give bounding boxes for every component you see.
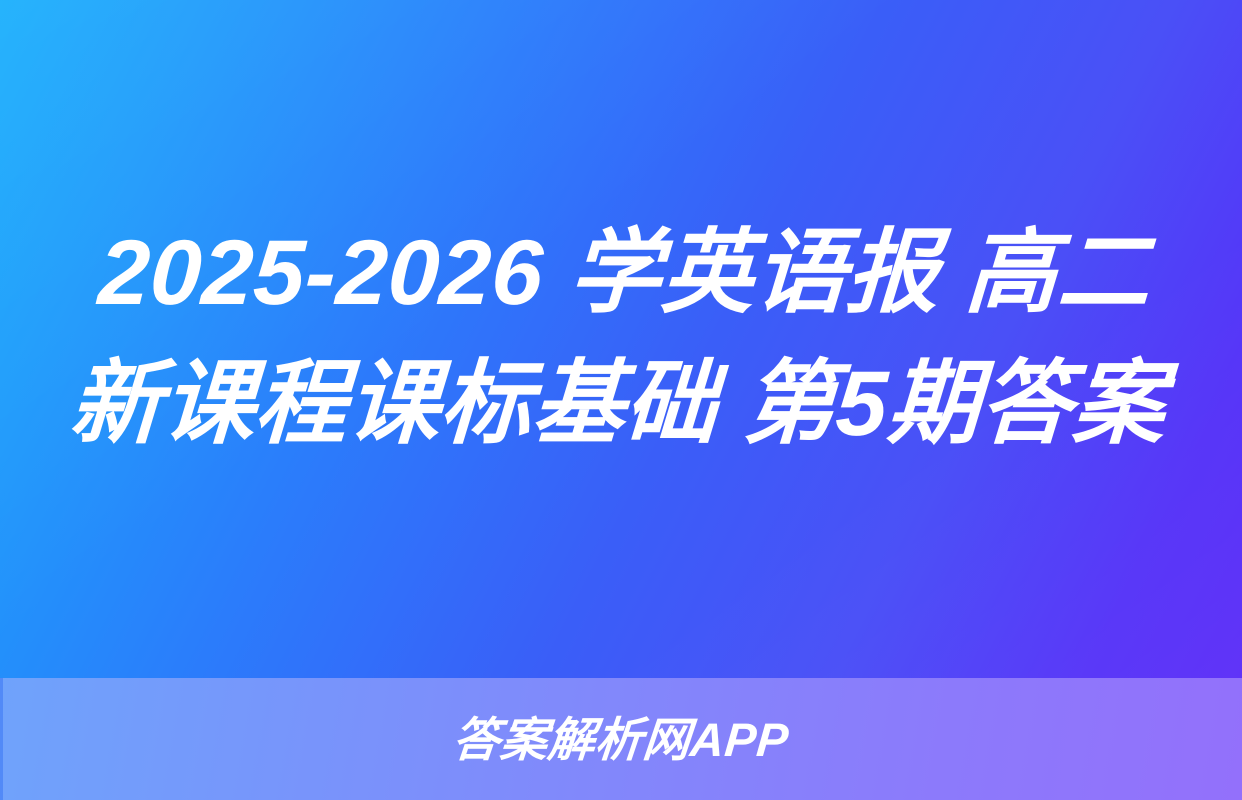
- hero-gradient-panel: 2025-2026 学英语报 高二 新课程课标基础 第5期答案: [0, 0, 1242, 678]
- page-title: 2025-2026 学英语报 高二 新课程课标基础 第5期答案: [39, 208, 1203, 469]
- answer-cover-poster: 2025-2026 学英语报 高二 新课程课标基础 第5期答案 答案解析网APP: [0, 0, 1242, 800]
- brand-watermark-label: 答案解析网APP: [451, 716, 791, 763]
- band-left-edge-accent: [0, 678, 3, 800]
- brand-footer-band: 答案解析网APP: [0, 678, 1242, 800]
